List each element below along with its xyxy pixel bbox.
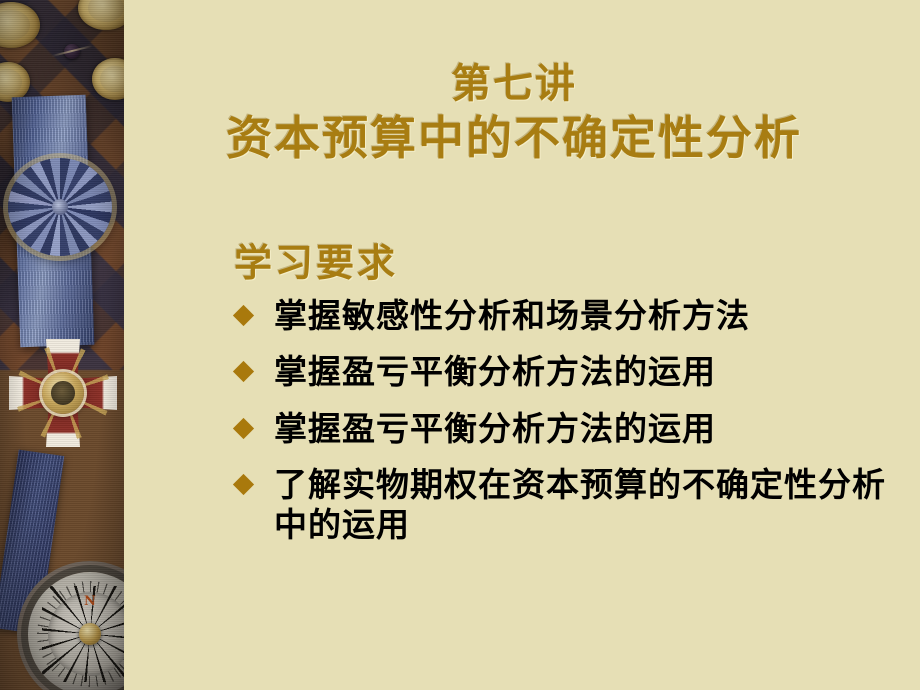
diamond-bullet-icon (233, 305, 254, 326)
title-line-lecture-number: 第七讲 (124, 62, 904, 108)
diamond-bullet-icon (233, 417, 254, 438)
compass-icon: N (28, 572, 124, 690)
list-item-label: 掌握敏感性分析和场景分析方法 (274, 296, 896, 336)
list-item-label: 掌握盈亏平衡分析方法的运用 (274, 409, 896, 449)
presentation-slide: N 第七讲 资本预算中的不确定性分析 学习要求 掌握敏感性分析和场景分析方法 掌… (0, 0, 920, 690)
diamond-bullet-icon (233, 474, 254, 495)
list-item: 了解实物期权在资本预算的不确定性分析中的运用 (230, 465, 896, 546)
list-item: 掌握敏感性分析和场景分析方法 (230, 296, 896, 336)
maltese-cross-medal-icon (2, 318, 124, 468)
sidebar-decorative-image: N (0, 0, 124, 690)
medal-center-medallion (42, 372, 84, 414)
list-item-label: 了解实物期权在资本预算的不确定性分析中的运用 (274, 465, 896, 546)
list-item: 掌握盈亏平衡分析方法的运用 (230, 409, 896, 449)
diamond-bullet-icon (233, 361, 254, 382)
section-heading-learning-requirements: 学习要求 (234, 232, 398, 287)
slide-content: 第七讲 资本预算中的不确定性分析 学习要求 掌握敏感性分析和场景分析方法 掌握盈… (124, 0, 920, 690)
tack-icon (64, 44, 80, 59)
list-item: 掌握盈亏平衡分析方法的运用 (230, 352, 896, 392)
compass-north-label: N (84, 594, 96, 609)
pleated-rosette-icon (8, 158, 112, 256)
learning-requirements-list: 掌握敏感性分析和场景分析方法 掌握盈亏平衡分析方法的运用 掌握盈亏平衡分析方法的… (230, 296, 896, 561)
slide-title: 第七讲 资本预算中的不确定性分析 (124, 62, 904, 164)
list-item-label: 掌握盈亏平衡分析方法的运用 (274, 352, 896, 392)
title-line-subject: 资本预算中的不确定性分析 (124, 112, 904, 164)
